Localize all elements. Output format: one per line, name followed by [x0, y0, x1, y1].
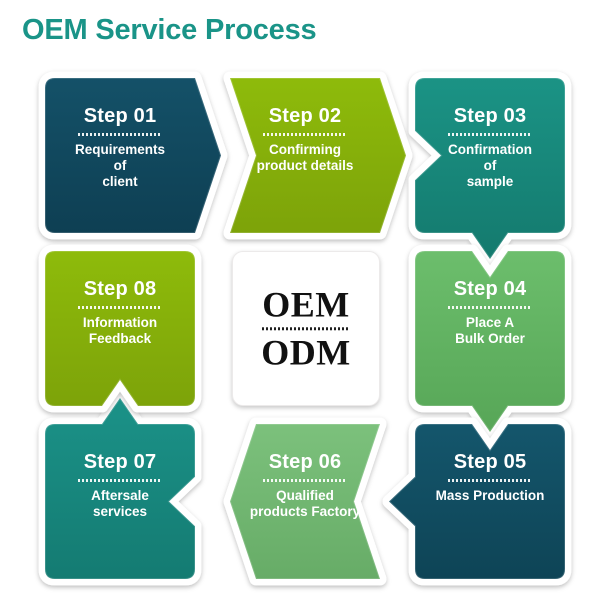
- process-step-step-07[interactable]: Step 07Aftersaleservices: [45, 424, 195, 579]
- center-oem-odm-card: OEM ODM: [232, 251, 380, 406]
- infographic-page: OEM Service Process OEM ODM Step 01Requi…: [0, 0, 600, 600]
- oem-label: OEM: [233, 286, 379, 323]
- step-shape-step-08: [9, 215, 231, 442]
- process-grid: OEM ODM Step 01RequirementsofclientStep …: [45, 78, 565, 578]
- oem-odm-divider: [262, 328, 350, 331]
- process-step-step-06[interactable]: Step 06Qualifiedproducts Factory: [230, 424, 380, 579]
- center-card-content: OEM ODM: [233, 286, 379, 371]
- process-step-step-08[interactable]: Step 08InformationFeedback: [45, 251, 195, 406]
- process-step-step-05[interactable]: Step 05Mass Production: [415, 424, 565, 579]
- odm-label: ODM: [233, 335, 379, 372]
- process-step-step-04[interactable]: Step 04Place ABulk Order: [415, 251, 565, 406]
- process-step-step-03[interactable]: Step 03Confirmationofsample: [415, 78, 565, 233]
- process-step-step-01[interactable]: Step 01Requirementsofclient: [45, 78, 195, 233]
- process-step-step-02[interactable]: Step 02Confirmingproduct details: [230, 78, 380, 233]
